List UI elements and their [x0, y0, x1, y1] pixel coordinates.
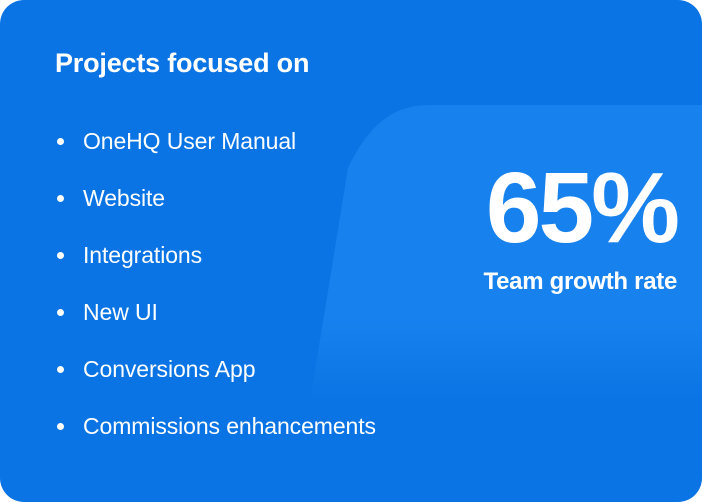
- bullet-dot-icon: [57, 309, 64, 316]
- stat-caption: Team growth rate: [484, 268, 677, 296]
- list-item-label: Conversions App: [83, 356, 255, 383]
- list-item-label: New UI: [83, 299, 158, 326]
- list-item: Integrations: [55, 227, 376, 284]
- bullet-dot-icon: [57, 195, 64, 202]
- page-title: Projects focused on: [55, 48, 309, 79]
- list-item: OneHQ User Manual: [55, 113, 376, 170]
- list-item: New UI: [55, 284, 376, 341]
- list-item-label: Integrations: [83, 242, 202, 269]
- bullet-dot-icon: [57, 423, 64, 430]
- bullet-dot-icon: [57, 366, 64, 373]
- bullet-dot-icon: [57, 138, 64, 145]
- list-item-label: Commissions enhancements: [83, 413, 376, 440]
- projects-list: OneHQ User Manual Website Integrations N…: [55, 113, 376, 455]
- list-item: Commissions enhancements: [55, 398, 376, 455]
- list-item-label: OneHQ User Manual: [83, 128, 296, 155]
- bullet-dot-icon: [57, 252, 64, 259]
- projects-highlight-card: Projects focused on OneHQ User Manual We…: [0, 0, 702, 502]
- list-item-label: Website: [83, 185, 165, 212]
- card-content: Projects focused on OneHQ User Manual We…: [0, 0, 702, 502]
- stat-value: 65%: [484, 160, 677, 256]
- list-item: Website: [55, 170, 376, 227]
- list-item: Conversions App: [55, 341, 376, 398]
- team-growth-stat: 65% Team growth rate: [484, 160, 677, 296]
